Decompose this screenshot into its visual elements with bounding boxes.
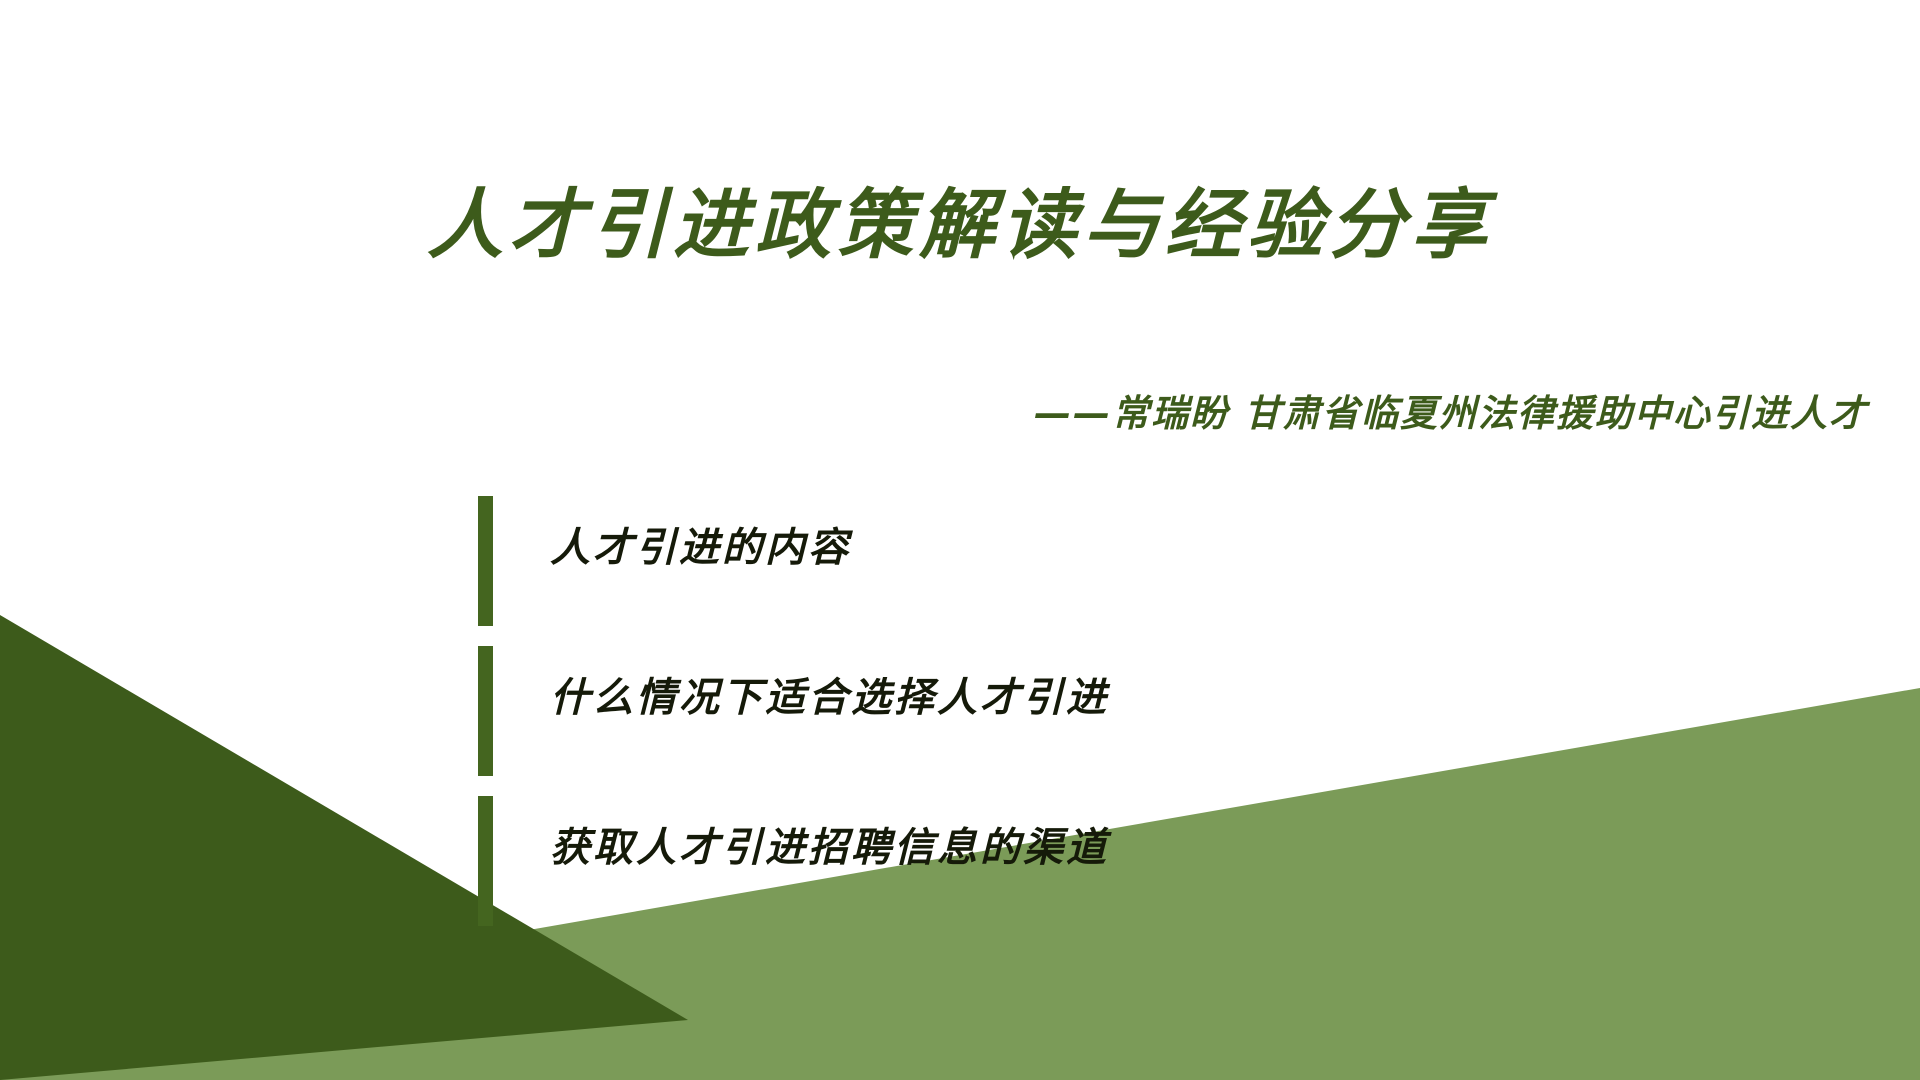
- bullet-accent-bar-icon: [478, 496, 493, 626]
- list-item[interactable]: 人才引进的内容: [478, 492, 1678, 642]
- bullet-accent-bar-icon: [478, 796, 493, 926]
- slide-attribution: ——常瑞盼 甘肃省临夏州法律援助中心引进人才: [1034, 392, 1868, 436]
- agenda-item-label-1: 人才引进的内容: [550, 526, 851, 570]
- presentation-slide: 人才引进政策解读与经验分享 ——常瑞盼 甘肃省临夏州法律援助中心引进人才 人才引…: [0, 0, 1920, 1080]
- agenda-list: 人才引进的内容 什么情况下适合选择人才引进 获取人才引进招聘信息的渠道: [478, 492, 1678, 942]
- agenda-item-label-3: 获取人才引进招聘信息的渠道: [550, 826, 1109, 870]
- agenda-item-label-2: 什么情况下适合选择人才引进: [550, 676, 1109, 720]
- list-item[interactable]: 获取人才引进招聘信息的渠道: [478, 792, 1678, 942]
- slide-content: 人才引进政策解读与经验分享 ——常瑞盼 甘肃省临夏州法律援助中心引进人才 人才引…: [0, 0, 1920, 1080]
- bullet-accent-bar-icon: [478, 646, 493, 776]
- page-title: 人才引进政策解读与经验分享: [0, 185, 1920, 265]
- list-item[interactable]: 什么情况下适合选择人才引进: [478, 642, 1678, 792]
